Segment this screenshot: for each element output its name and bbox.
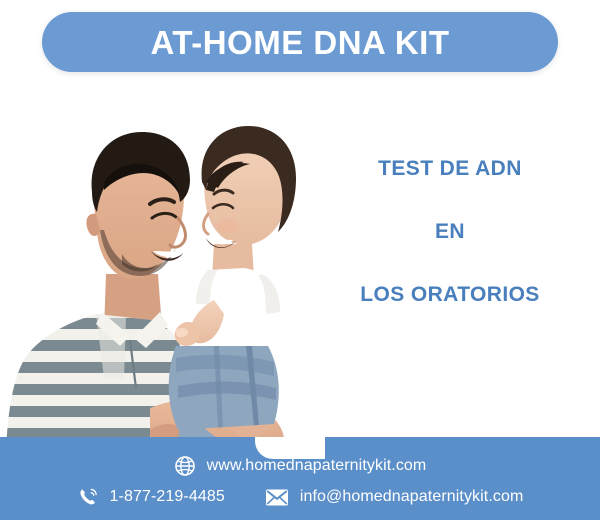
footer-phone-text: 1-877-219-4485	[110, 489, 225, 505]
footer-row-website: www.homednapaternitykit.com	[0, 455, 600, 477]
title-banner: AT-HOME DNA KIT	[42, 12, 558, 72]
phone-icon	[77, 486, 99, 508]
footer-email[interactable]: info@homednapaternitykit.com	[265, 488, 524, 507]
footer-phone[interactable]: 1-877-219-4485	[77, 486, 225, 508]
title-banner-text: AT-HOME DNA KIT	[151, 26, 450, 59]
envelope-icon	[265, 488, 289, 507]
headline-line-1: TEST DE ADN	[310, 158, 590, 179]
family-photo	[0, 78, 320, 468]
footer-website[interactable]: www.homednapaternitykit.com	[174, 455, 427, 477]
headline-line-2: EN	[310, 221, 590, 242]
headline-block: TEST DE ADN EN LOS ORATORIOS	[310, 158, 590, 305]
globe-icon	[174, 455, 196, 477]
poster: AT-HOME DNA KIT	[0, 0, 600, 520]
footer-website-text: www.homednapaternitykit.com	[207, 458, 427, 474]
footer-row-contacts: 1-877-219-4485 info@homednapaternitykit.…	[0, 486, 600, 508]
headline-line-3: LOS ORATORIOS	[310, 284, 590, 305]
footer-email-text: info@homednapaternitykit.com	[300, 489, 524, 505]
